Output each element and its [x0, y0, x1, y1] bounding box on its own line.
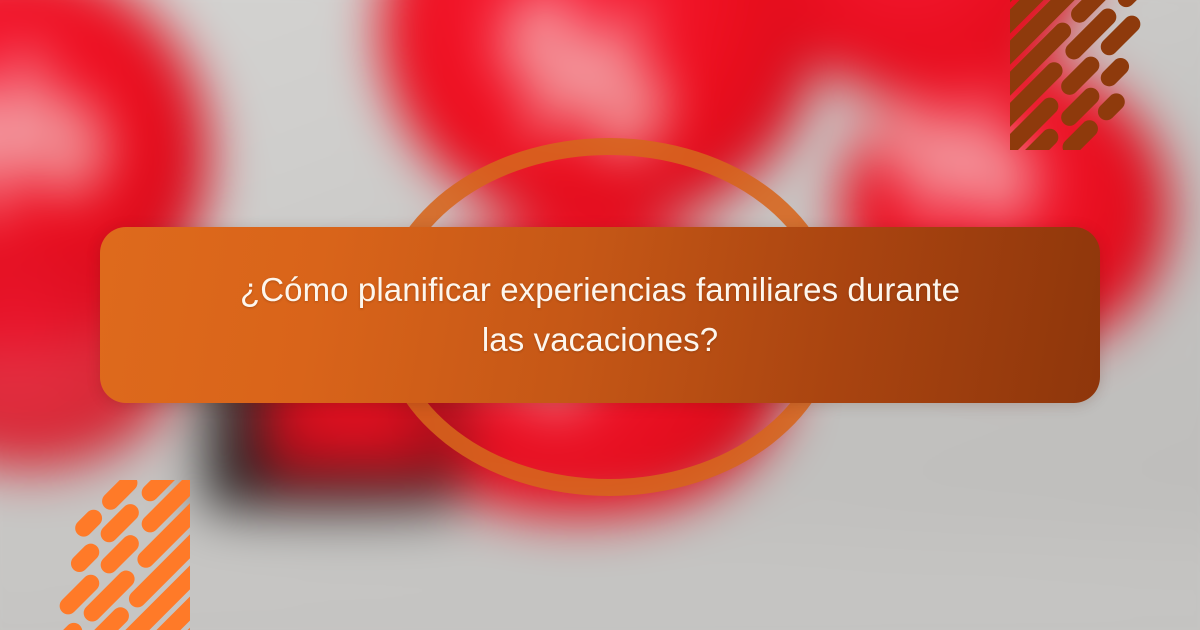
headline-banner: ¿Cómo planificar experiencias familiares… — [100, 227, 1100, 403]
page-title: ¿Cómo planificar experiencias familiares… — [220, 265, 980, 365]
percent-icon: % — [872, 68, 1040, 253]
floor-gradient — [0, 490, 1200, 630]
banner-card: % % % % — [0, 0, 1200, 630]
